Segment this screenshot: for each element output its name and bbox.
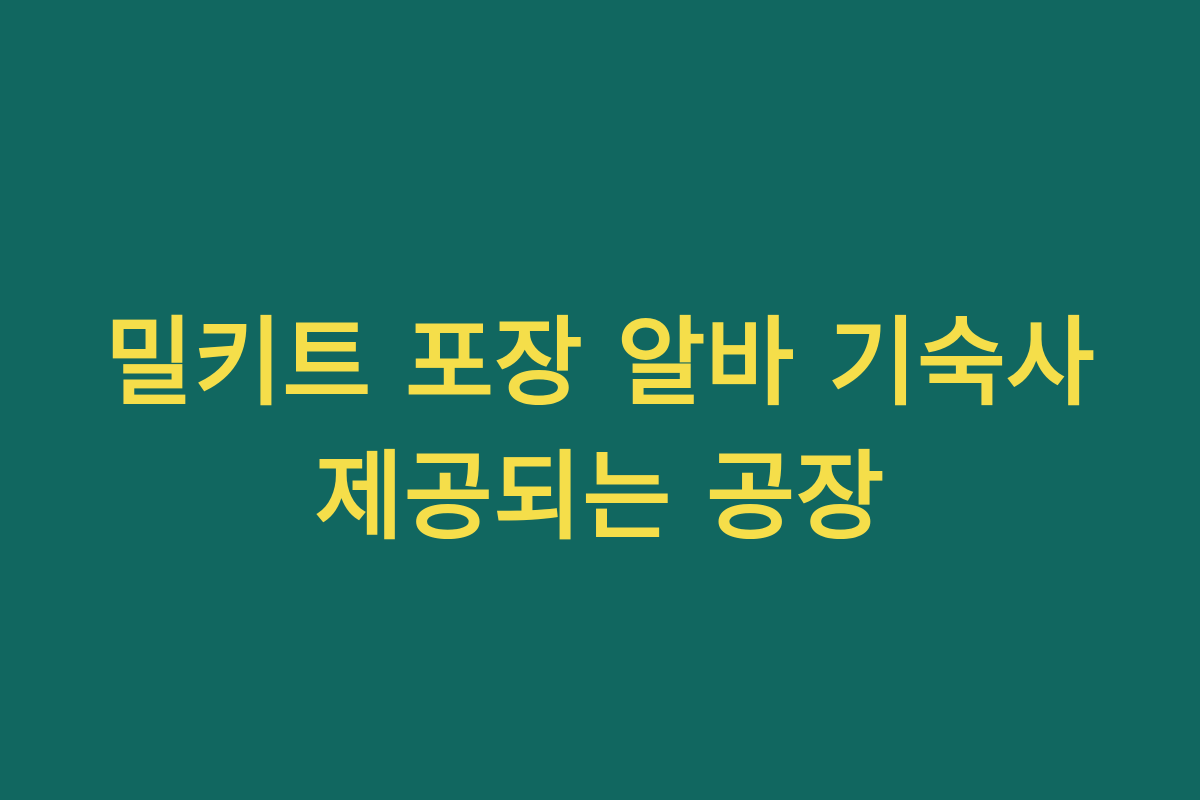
headline-text-block: 밀키트 포장 알바 기숙사 제공되는 공장 <box>0 296 1200 564</box>
headline-line-2: 제공되는 공장 <box>24 430 1176 564</box>
title-card: 밀키트 포장 알바 기숙사 제공되는 공장 <box>0 0 1200 800</box>
headline-line-1: 밀키트 포장 알바 기숙사 <box>24 296 1176 430</box>
